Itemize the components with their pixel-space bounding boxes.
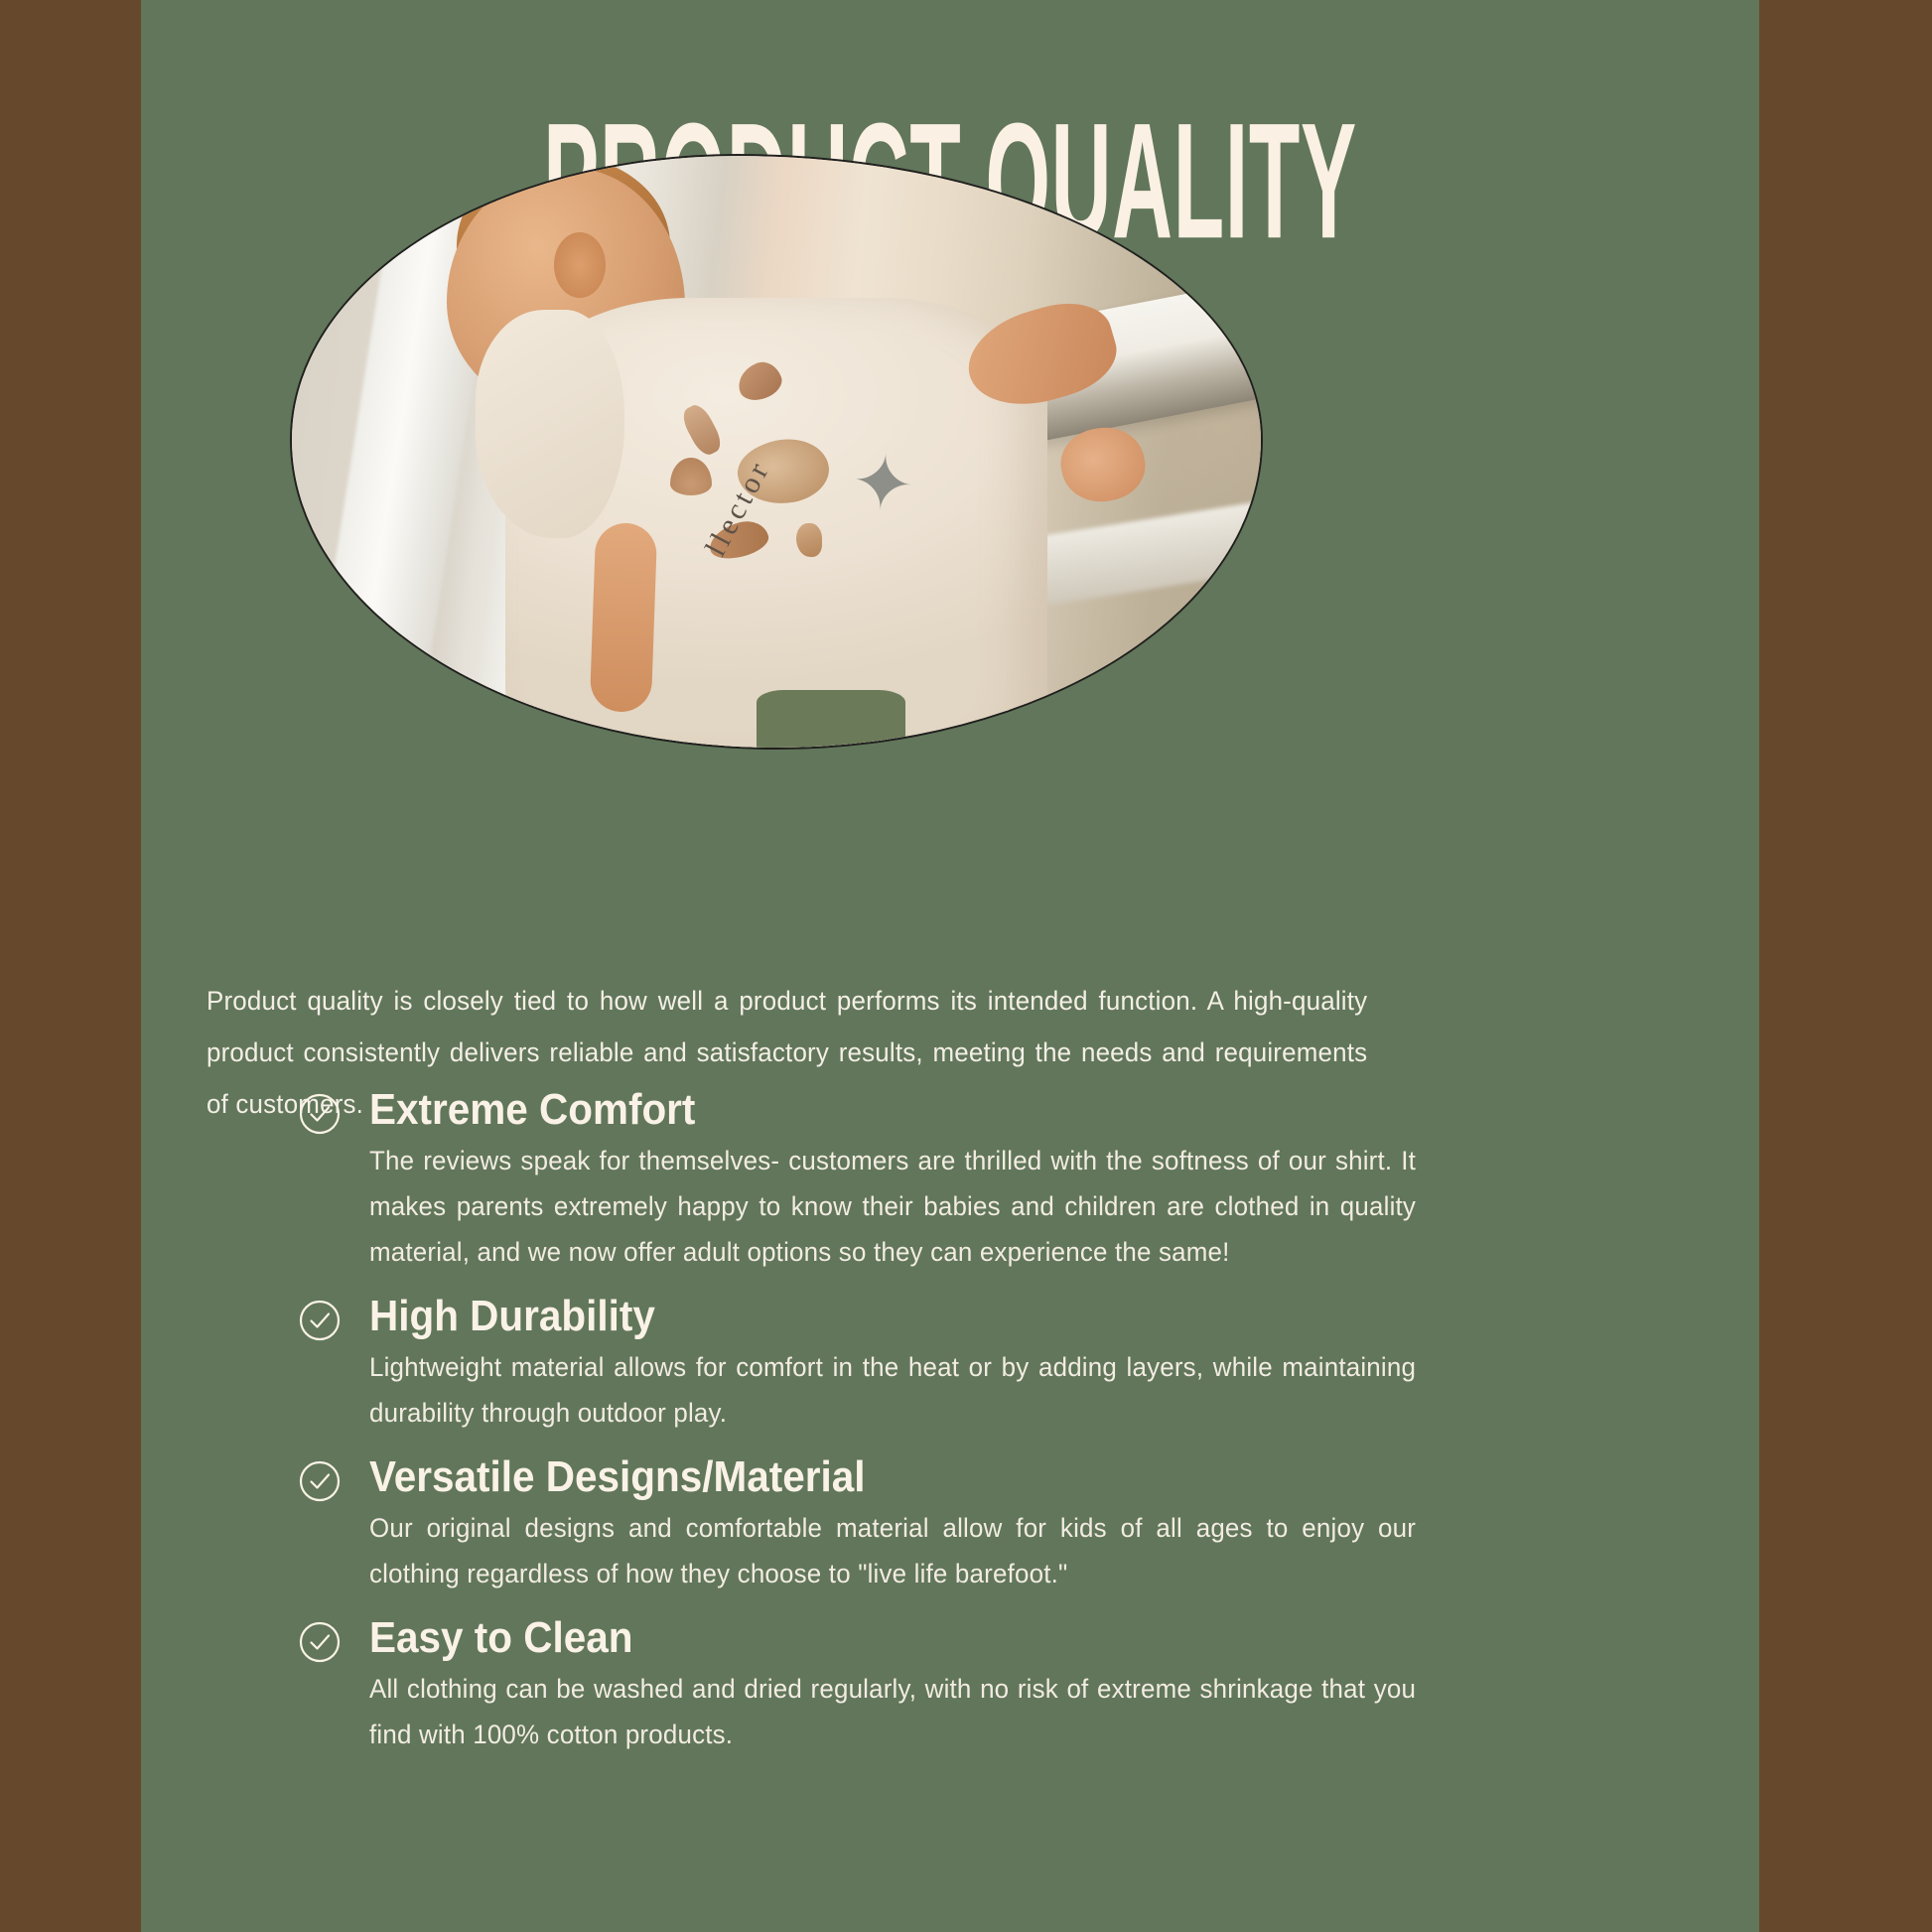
shirt-print-starfish-icon: ✦ — [840, 442, 925, 527]
feature-description: All clothing can be washed and dried reg… — [369, 1666, 1416, 1757]
feature-description: Lightweight material allows for comfort … — [369, 1344, 1416, 1436]
feature-item-versatile-designs-material: Versatile Designs/Material Our original … — [220, 1449, 1511, 1596]
feature-title: High Durability — [369, 1289, 1420, 1344]
circle-check-icon — [298, 1459, 342, 1503]
feature-description: The reviews speak for themselves- custom… — [369, 1138, 1416, 1275]
hero-image-blob: ✦ llector — [290, 154, 1263, 750]
feature-item-high-durability: High Durability Lightweight material all… — [220, 1289, 1511, 1436]
feature-item-extreme-comfort: Extreme Comfort The reviews speak for th… — [220, 1082, 1511, 1275]
poster-page: PRODUCT QUALITY — [0, 0, 1932, 1932]
shirt-sleeve — [476, 310, 624, 538]
circle-check-icon — [298, 1092, 342, 1136]
feature-item-easy-to-clean: Easy to Clean All clothing can be washed… — [220, 1610, 1511, 1757]
shirt-print-shell-f — [796, 523, 822, 557]
feature-title: Versatile Designs/Material — [369, 1449, 1420, 1505]
child-ear — [554, 232, 606, 298]
hero-image-container: ✦ llector — [290, 154, 1263, 750]
circle-check-icon — [298, 1299, 342, 1342]
feature-list: Extreme Comfort The reviews speak for th… — [220, 1082, 1511, 1771]
feature-title: Easy to Clean — [369, 1610, 1420, 1666]
hero-photo: ✦ llector — [292, 156, 1261, 748]
circle-check-icon — [298, 1620, 342, 1664]
child-arm-left — [589, 521, 657, 712]
child-shorts — [757, 690, 905, 750]
feature-description: Our original designs and comfortable mat… — [369, 1505, 1416, 1596]
feature-title: Extreme Comfort — [369, 1082, 1420, 1138]
content-panel: PRODUCT QUALITY — [141, 0, 1759, 1932]
